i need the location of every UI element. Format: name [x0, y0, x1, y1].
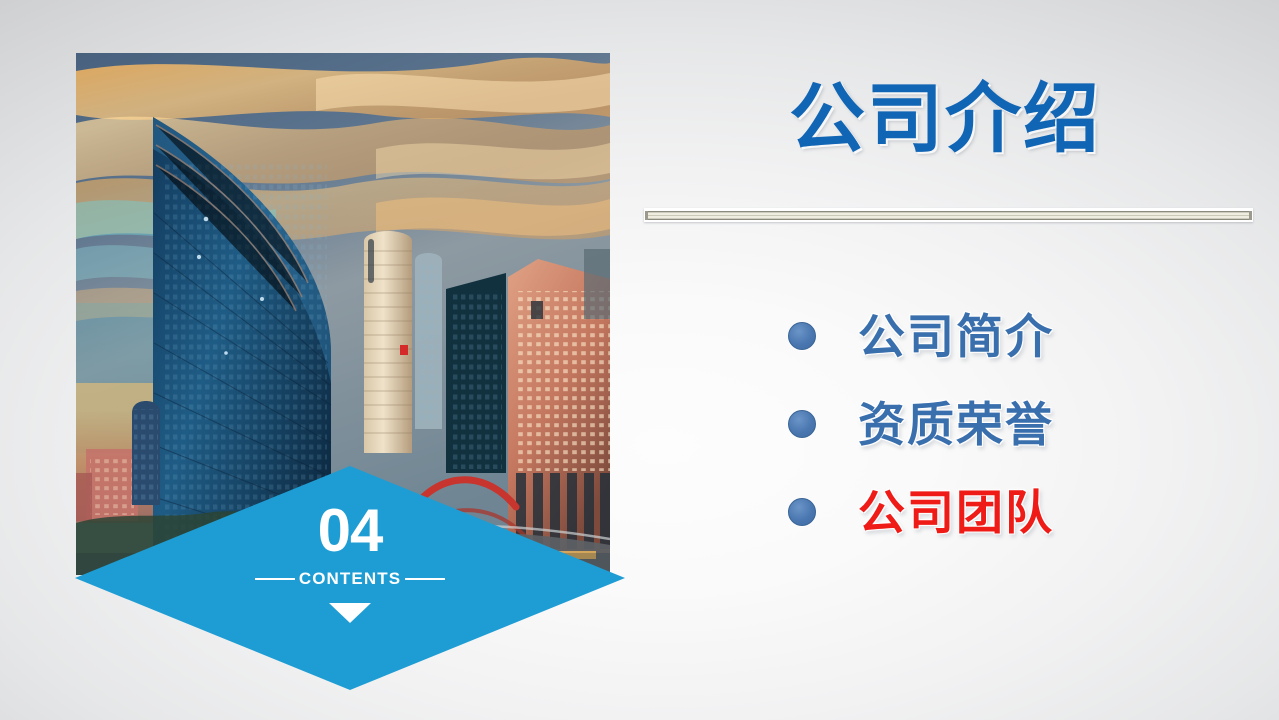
page-title: 公司介绍: [644, 82, 1254, 158]
toc-item-label: 资质荣誉: [858, 401, 1054, 448]
cityscape-photo: [76, 53, 610, 575]
title-divider: [644, 208, 1253, 222]
divider-cap-left: [645, 211, 648, 220]
caption-rule-left: [255, 578, 295, 580]
toc-item-company-team[interactable]: 公司团队: [788, 468, 1248, 556]
toc-item-qualifications-honors[interactable]: 资质荣誉: [788, 380, 1248, 468]
toc-item-label-active: 公司团队: [858, 489, 1054, 536]
toc-item-company-profile[interactable]: 公司简介: [788, 292, 1248, 380]
bullet-icon: [788, 498, 816, 526]
triangle-down-icon: [329, 603, 371, 623]
divider-bevel: [645, 211, 1252, 220]
bullet-icon: [788, 410, 816, 438]
caption-rule-right: [405, 578, 445, 580]
divider-cap-right: [1249, 211, 1252, 220]
presentation-slide: 04 CONTENTS 公司介绍 公司简介 资质荣誉: [0, 0, 1279, 720]
bullet-icon: [788, 322, 816, 350]
slide-content-column: 公司介绍 公司简介 资质荣誉 公司团队: [644, 60, 1254, 660]
toc-item-label: 公司简介: [858, 313, 1054, 360]
table-of-contents: 公司简介 资质荣誉 公司团队: [788, 292, 1248, 556]
